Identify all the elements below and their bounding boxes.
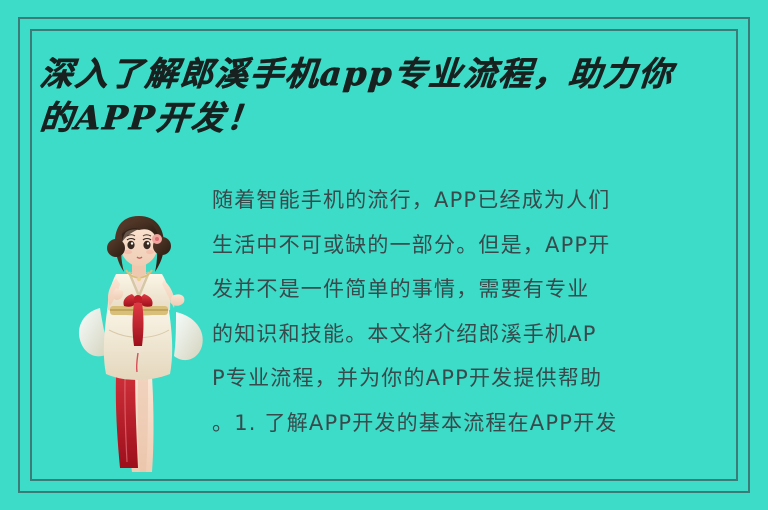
- girl-illustration: [76, 200, 208, 478]
- body-line-2: 生活中不可或缺的一部分。但是，APP开: [212, 223, 736, 268]
- body-line-5: P专业流程，并为你的APP开发提供帮助: [212, 356, 736, 401]
- body-line-1: 随着智能手机的流行，APP已经成为人们: [212, 178, 736, 223]
- page-title: 深入了解郎溪手机app专业流程，助力你 的APP开发！: [40, 52, 755, 140]
- body-copy: 随着智能手机的流行，APP已经成为人们 生活中不可或缺的一部分。但是，APP开 …: [212, 178, 736, 445]
- body-line-6: 。1. 了解APP开发的基本流程在APP开发: [212, 401, 736, 446]
- title-line-2: 的APP开发！: [38, 96, 757, 140]
- title-line-1: 深入了解郎溪手机app专业流程，助力你: [38, 52, 757, 96]
- body-line-3: 发并不是一件简单的事情，需要有专业: [212, 267, 736, 312]
- body-line-4: 的知识和技能。本文将介绍郎溪手机AP: [212, 312, 736, 357]
